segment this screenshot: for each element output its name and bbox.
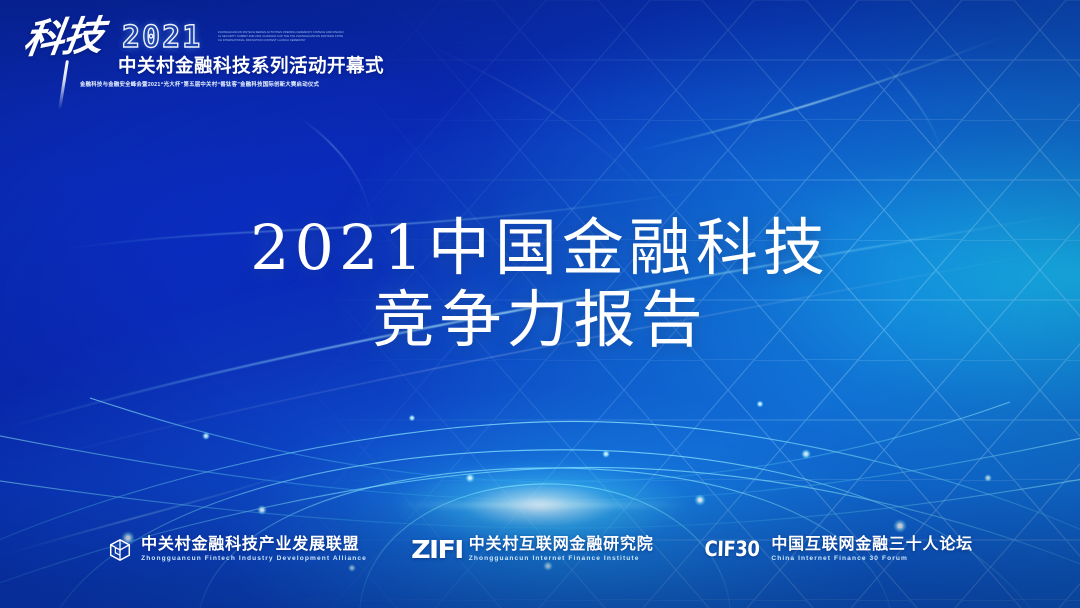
banner-year-text: 2021: [122, 22, 202, 54]
banner-english-microtext: ZHONGGUANCUN FINTECH SERIES ACTIVITIES O…: [218, 31, 344, 43]
partner-logo-row: 中关村金融科技产业发展联盟 Zhongguancun Fintech Indus…: [0, 535, 1080, 564]
banner-subtitle-cn: 金融科技与金融安全峰会暨2021“光大杯”第五届中关村“番钛客”金融科技国际创新…: [80, 81, 319, 89]
logo-name-cn: 中关村互联网金融研究院: [469, 535, 654, 553]
poster-slide: 科技 2021 ZHONGGUANCUN FINTECH SERIES ACTI…: [0, 0, 1080, 608]
event-banner-lockup: 科技 2021 ZHONGGUANCUN FINTECH SERIES ACTI…: [18, 20, 348, 104]
logo-text-block: 中关村互联网金融研究院 Zhongguancun Internet Financ…: [469, 535, 654, 564]
cif30-wordmark-icon: CIF30: [704, 539, 759, 560]
logo-text-block: 中关村金融科技产业发展联盟 Zhongguancun Fintech Indus…: [141, 535, 367, 564]
cube-icon: [107, 537, 133, 563]
logo-name-en: Zhongguancun Fintech Industry Developmen…: [141, 554, 367, 564]
network-globe-decoration: [0, 358, 1080, 608]
logo-name-cn: 中国互联网金融三十人论坛: [771, 535, 973, 553]
logo-zgc-fintech-alliance: 中关村金融科技产业发展联盟 Zhongguancun Fintech Indus…: [107, 535, 367, 564]
logo-text-block: 中国互联网金融三十人论坛 China Internet Finance 30 F…: [771, 535, 973, 564]
logo-cif30-forum: CIF30 中国互联网金融三十人论坛 China Internet Financ…: [700, 535, 973, 564]
logo-name-en: Zhongguancun Internet Finance Institute: [469, 554, 654, 564]
zifi-wordmark-icon: ZIFI: [411, 537, 463, 562]
headline-line-2: 竞争力报告: [0, 284, 1080, 356]
logo-name-en: China Internet Finance 30 Forum: [771, 554, 973, 564]
logo-name-cn: 中关村金融科技产业发展联盟: [141, 535, 367, 553]
keji-calligraphy-text: 科技: [21, 14, 106, 62]
banner-title-cn: 中关村金融科技系列活动开幕式: [118, 56, 384, 78]
headline-line-1: 2021中国金融科技: [0, 212, 1080, 284]
calligraphy-brush-stroke: [58, 60, 69, 110]
logo-zgc-internet-finance-institute: ZIFI 中关村互联网金融研究院 Zhongguancun Internet F…: [413, 535, 654, 564]
poster-headline: 2021中国金融科技 竞争力报告: [0, 212, 1080, 356]
